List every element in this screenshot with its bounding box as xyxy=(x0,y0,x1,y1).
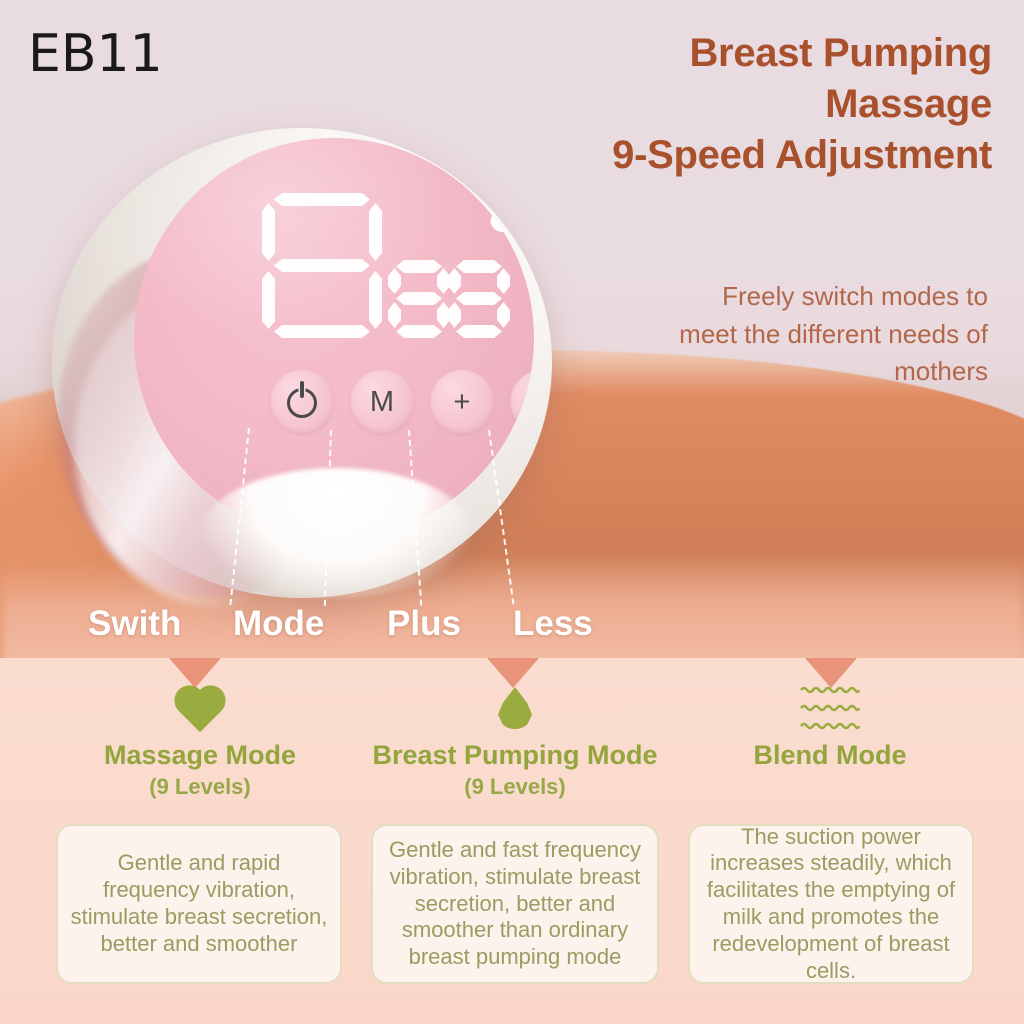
description-text-pumping: Gentle and fast frequency vibration, sti… xyxy=(385,837,645,971)
mode-button[interactable]: M xyxy=(350,370,414,434)
display-minute-digit-2 xyxy=(448,260,510,338)
headline-line-2: Massage xyxy=(572,79,992,130)
hero-scene: min M + − xyxy=(0,0,1024,660)
milk-drop-icon xyxy=(490,199,516,232)
mode-headers: Massage Mode (9 Levels) Breast Pumping M… xyxy=(0,682,1024,832)
callout-plus: Plus xyxy=(387,604,461,644)
display-minute-digit-1 xyxy=(388,260,450,338)
subtext-line-1: Freely switch modes to xyxy=(588,278,988,316)
headline-line-3: 9-Speed Adjustment xyxy=(572,130,992,181)
callout-switch: Swith xyxy=(88,604,181,644)
teardrop-icon xyxy=(350,682,680,734)
subtext-line-2: meet the different needs of xyxy=(588,316,988,354)
mode-title-massage: Massage Mode xyxy=(30,740,370,771)
callout-mode: Mode xyxy=(233,604,324,644)
power-button[interactable] xyxy=(270,370,334,434)
power-icon xyxy=(287,386,317,418)
display-main-digit xyxy=(262,193,382,338)
plus-icon: + xyxy=(454,386,471,419)
device-button-row: M + − xyxy=(270,370,534,440)
headline: Breast Pumping Massage 9-Speed Adjustmen… xyxy=(572,28,992,182)
mode-column-massage: Massage Mode (9 Levels) xyxy=(30,682,370,800)
description-card-massage: Gentle and rapid frequency vibration, st… xyxy=(56,824,342,984)
led-display: min xyxy=(262,193,534,333)
mode-column-blend: Blend Mode xyxy=(665,682,995,774)
minus-button[interactable]: − xyxy=(510,370,534,434)
modes-panel: Massage Mode (9 Levels) Breast Pumping M… xyxy=(0,658,1024,1024)
model-code: EB11 xyxy=(28,24,163,84)
description-card-blend: The suction power increases steadily, wh… xyxy=(688,824,974,984)
waves-icon xyxy=(665,682,995,734)
mode-description-cards: Gentle and rapid frequency vibration, st… xyxy=(0,824,1024,1014)
callout-less: Less xyxy=(513,604,593,644)
description-text-massage: Gentle and rapid frequency vibration, st… xyxy=(70,850,328,957)
mode-subtitle-massage: (9 Levels) xyxy=(30,774,370,800)
mode-icon: M xyxy=(370,386,394,419)
description-text-blend: The suction power increases steadily, wh… xyxy=(702,824,960,985)
mode-title-blend: Blend Mode xyxy=(665,740,995,771)
subtext: Freely switch modes to meet the differen… xyxy=(588,278,988,391)
mode-column-pumping: Breast Pumping Mode (9 Levels) xyxy=(350,682,680,800)
headline-line-1: Breast Pumping xyxy=(572,28,992,79)
heart-icon xyxy=(30,682,370,734)
mode-title-pumping: Breast Pumping Mode xyxy=(350,740,680,771)
mode-subtitle-pumping: (9 Levels) xyxy=(350,774,680,800)
description-card-pumping: Gentle and fast frequency vibration, sti… xyxy=(371,824,659,984)
subtext-line-3: mothers xyxy=(588,353,988,391)
callout-labels: Swith Mode Plus Less xyxy=(0,604,1024,660)
plus-button[interactable]: + xyxy=(430,370,494,434)
breast-pump-device: min M + − xyxy=(52,128,552,618)
product-infographic: min M + − xyxy=(0,0,1024,1024)
